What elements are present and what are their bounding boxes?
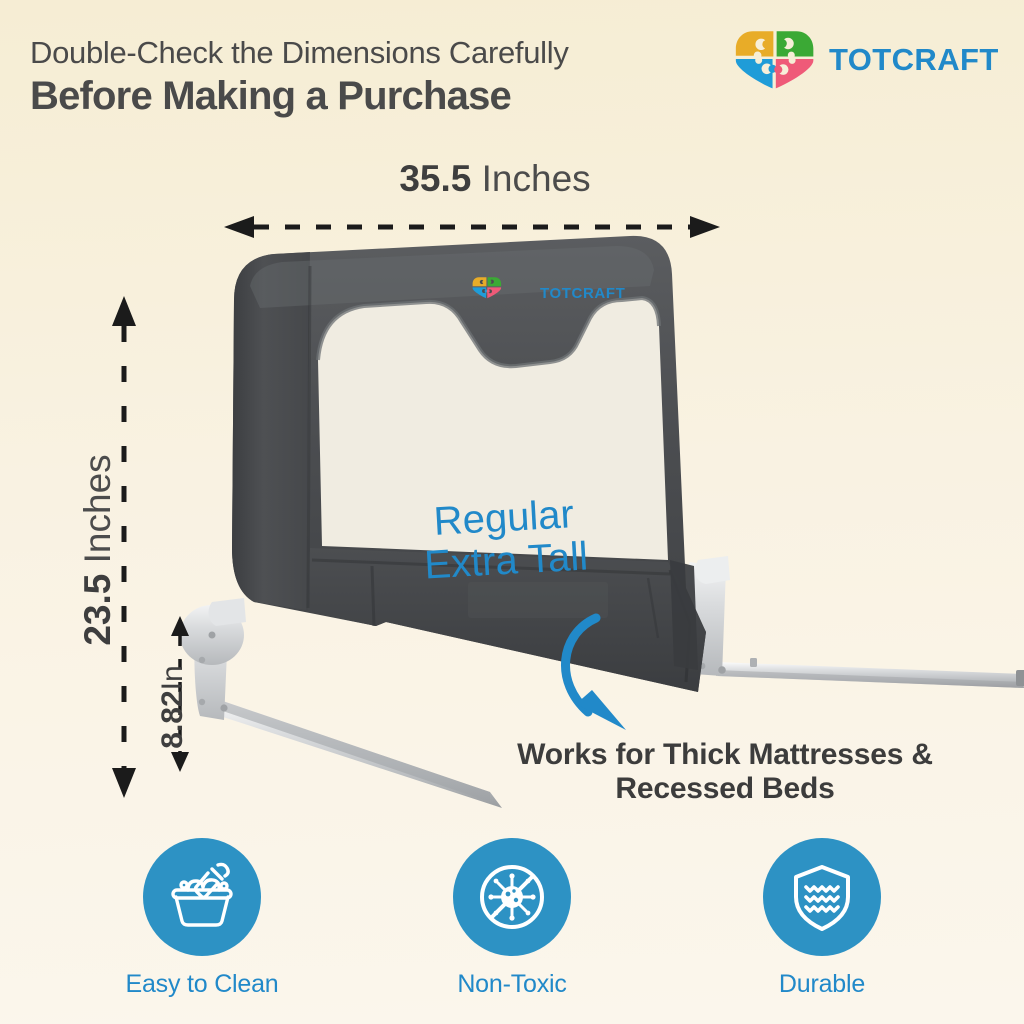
clearance-dimension-value: 8.82 [156,690,189,748]
wash-basin-brush-icon [164,859,240,935]
rail-variant-label: Regular Extra Tall [388,491,622,590]
feature-icon-badge [143,838,261,956]
height-dimension-label: 23.5 Inches [77,340,119,760]
page-title: Before Making a Purchase [30,74,760,118]
callout-text: Works for Thick Mattresses & Recessed Be… [435,738,1015,805]
feature-label: Durable [779,970,865,999]
curved-arrow-down-right-icon [548,612,678,737]
brand-logo: TOTCRAFT [733,28,999,90]
feature-list: Easy to Clean [0,838,1024,1008]
width-dimension-label: 35.5 Inches [330,158,660,200]
germ-no-entry-icon [474,859,550,935]
callout-line-2: Recessed Beds [435,772,1015,806]
header-line-1: Double-Check the Dimensions Carefully [30,36,760,69]
height-dimension-value: 23.5 [77,574,118,646]
height-dimension-unit: Inches [77,454,118,563]
product-infographic: Double-Check the Dimensions Carefully Be… [0,0,1024,1024]
double-arrow-horizontal-dashed-icon [224,214,720,240]
clearance-dimension-unit: In [156,665,189,690]
width-dimension-unit: Inches [482,158,591,199]
heart-puzzle-logo-icon [733,28,817,90]
feature-icon-badge [453,838,571,956]
width-dimension-value: 35.5 [399,158,471,199]
right-leg-assembly [686,556,1024,688]
feature-label: Non-Toxic [457,970,566,999]
feature-item-non-toxic: Non-Toxic [417,838,607,999]
brand-name: TOTCRAFT [829,44,999,75]
feature-icon-badge [763,838,881,956]
clearance-dimension-label: 8.82In [156,607,190,807]
header-block: Double-Check the Dimensions Carefully Be… [30,36,760,118]
feature-label: Easy to Clean [125,970,278,999]
rail-brand-text: TOTCRAFT [540,285,625,302]
callout-line-1: Works for Thick Mattresses & [435,738,1015,772]
feature-item-durable: Durable [727,838,917,999]
feature-item-easy-to-clean: Easy to Clean [107,838,297,999]
shield-waves-icon [784,859,860,935]
